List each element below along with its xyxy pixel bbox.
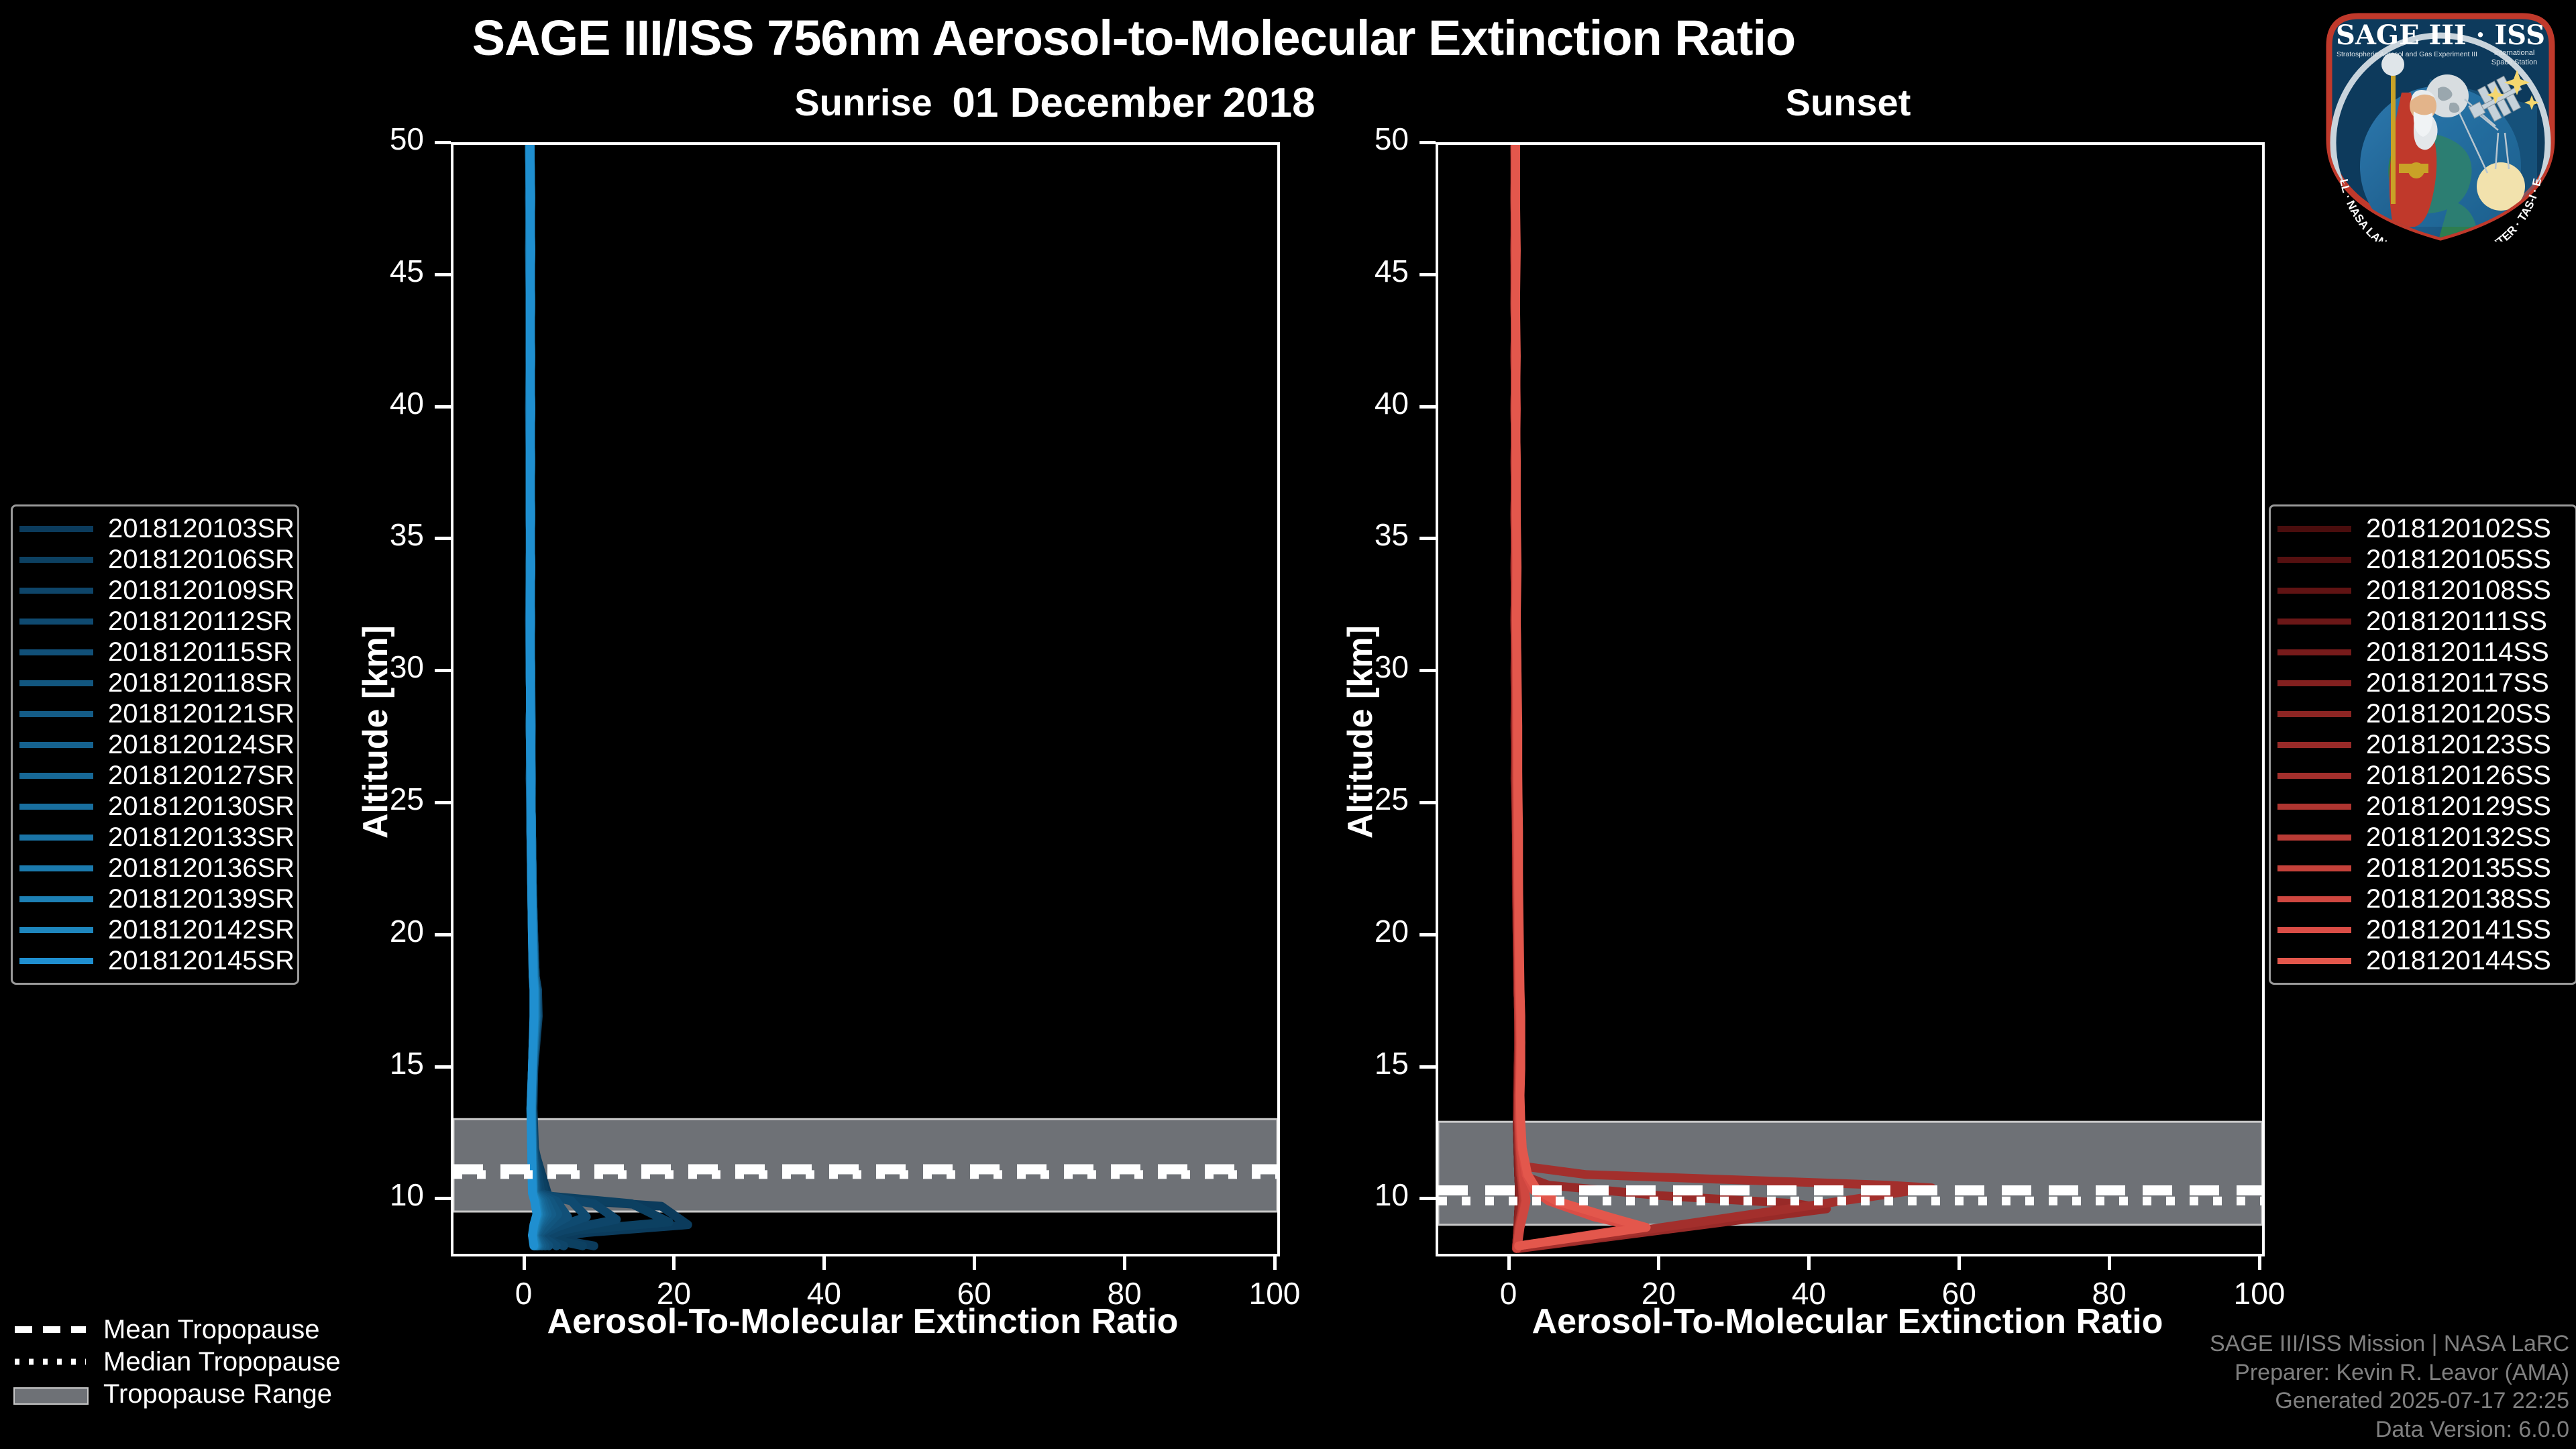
legend-item-label: 2018120120SS: [2366, 699, 2551, 729]
legend-item-label: 2018120145SR: [108, 946, 294, 976]
legend-color-swatch: [2277, 711, 2351, 717]
y-tick-label: 15: [1295, 1045, 1409, 1081]
legend-item-label: 2018120141SS: [2366, 915, 2551, 945]
legend-item-label: 2018120126SS: [2366, 761, 2551, 791]
y-tick-label: 25: [1295, 781, 1409, 817]
legend-item[interactable]: 2018120127SR: [19, 760, 288, 791]
x-tick-mark: [1507, 1254, 1511, 1270]
legend-item-label: 2018120108SS: [2366, 576, 2551, 606]
legend-item[interactable]: 2018120135SS: [2277, 853, 2566, 883]
x-tick-mark: [2108, 1254, 2111, 1270]
x-tick-label: 40: [1748, 1275, 1869, 1311]
legend-color-swatch: [2277, 773, 2351, 779]
legend-color-swatch: [19, 958, 93, 964]
legend-item-label: 2018120136SR: [108, 853, 294, 883]
x-tick-mark: [2258, 1254, 2261, 1270]
legend-item[interactable]: 2018120105SS: [2277, 544, 2566, 575]
legend-item[interactable]: 2018120126SS: [2277, 760, 2566, 791]
legend-item[interactable]: 2018120132SS: [2277, 822, 2566, 853]
legend-color-swatch: [2277, 896, 2351, 902]
y-tick-mark: [1419, 669, 1436, 672]
legend-color-swatch: [19, 865, 93, 871]
legend-item-label: 2018120117SS: [2366, 668, 2549, 698]
legend-item[interactable]: 2018120139SR: [19, 883, 288, 914]
legend-sunset[interactable]: 2018120102SS2018120105SS2018120108SS2018…: [2269, 504, 2576, 985]
credits-block: SAGE III/ISS Mission | NASA LaRC Prepare…: [2210, 1330, 2569, 1444]
legend-item[interactable]: 2018120142SR: [19, 914, 288, 945]
legend-item[interactable]: 2018120138SS: [2277, 883, 2566, 914]
legend-item-label: 2018120129SS: [2366, 792, 2551, 822]
legend-color-swatch: [19, 804, 93, 810]
logo-subtitle-left: Stratospheric Aerosol and Gas Experiment…: [2337, 50, 2477, 58]
y-tick-mark: [1419, 273, 1436, 276]
legend-item-label: 2018120133SR: [108, 822, 294, 853]
legend-item-label: 2018120115SR: [108, 637, 292, 667]
legend-color-swatch: [2277, 619, 2351, 625]
y-tick-label: 10: [1295, 1177, 1409, 1213]
legend-item[interactable]: 2018120103SR: [19, 513, 288, 544]
legend-color-swatch: [2277, 649, 2351, 655]
x-tick-label: 0: [1448, 1275, 1569, 1311]
legend-item[interactable]: 2018120130SR: [19, 791, 288, 822]
y-tick-label: 20: [1295, 913, 1409, 949]
legend-item[interactable]: 2018120102SS: [2277, 513, 2566, 544]
legend-item[interactable]: 2018120114SS: [2277, 637, 2566, 667]
logo-subtitle-right-1: International: [2494, 49, 2535, 57]
legend-item[interactable]: 2018120106SR: [19, 544, 288, 575]
legend-item[interactable]: 2018120118SR: [19, 667, 288, 698]
y-tick-mark: [1419, 801, 1436, 804]
legend-item-label: 2018120121SR: [108, 699, 294, 729]
credit-line: Preparer: Kevin R. Leavor (AMA): [2210, 1358, 2569, 1387]
legend-item-label: 2018120132SS: [2366, 822, 2551, 853]
legend-item-label: 2018120114SS: [2366, 637, 2549, 667]
y-tick-mark: [1419, 141, 1436, 144]
tropopause-legend: Mean TropopauseMedian TropopauseTropopau…: [13, 1313, 341, 1410]
legend-item-label: 2018120105SS: [2366, 545, 2551, 575]
tropopause-legend-item: Median Tropopause: [13, 1346, 341, 1378]
legend-item-label: 2018120138SS: [2366, 884, 2551, 914]
logo-title: SAGE III · ISS: [2336, 19, 2545, 51]
tropopause-legend-item: Mean Tropopause: [13, 1313, 341, 1346]
x-tick-mark: [1807, 1254, 1811, 1270]
legend-color-swatch: [19, 896, 93, 902]
tropopause-legend-label: Median Tropopause: [103, 1347, 341, 1377]
legend-item-label: 2018120144SS: [2366, 946, 2551, 976]
legend-item[interactable]: 2018120121SR: [19, 698, 288, 729]
legend-item-label: 2018120142SR: [108, 915, 294, 945]
legend-color-swatch: [19, 588, 93, 594]
y-tick-label: 45: [1295, 253, 1409, 289]
legend-color-swatch: [2277, 865, 2351, 871]
legend-color-swatch: [2277, 958, 2351, 964]
legend-item-label: 2018120109SR: [108, 576, 294, 606]
legend-item-label: 2018120123SS: [2366, 730, 2551, 760]
legend-color-swatch: [2277, 526, 2351, 532]
legend-item-label: 2018120130SR: [108, 792, 294, 822]
x-tick-label: 60: [1898, 1275, 2019, 1311]
legend-color-swatch: [2277, 588, 2351, 594]
axis-ticks-right: 101520253035404550020406080100: [0, 0, 2281, 1342]
legend-item[interactable]: 2018120129SS: [2277, 791, 2566, 822]
legend-item[interactable]: 2018120133SR: [19, 822, 288, 853]
legend-item[interactable]: 2018120120SS: [2277, 698, 2566, 729]
legend-item-label: 2018120124SR: [108, 730, 294, 760]
legend-color-swatch: [2277, 680, 2351, 686]
x-tick-label: 80: [2049, 1275, 2169, 1311]
sage-iii-iss-mission-patch: SAGE III · ISS Stratospheric Aerosol and…: [2316, 5, 2565, 241]
x-tick-label: 100: [2199, 1275, 2320, 1311]
legend-item-label: 2018120111SS: [2366, 606, 2547, 637]
legend-item-label: 2018120139SR: [108, 884, 294, 914]
y-tick-label: 30: [1295, 649, 1409, 685]
legend-color-swatch: [19, 680, 93, 686]
y-tick-mark: [1419, 405, 1436, 409]
legend-color-swatch: [19, 835, 93, 841]
credit-line: Generated 2025-07-17 22:25: [2210, 1387, 2569, 1415]
legend-color-swatch: [19, 773, 93, 779]
y-tick-mark: [1419, 537, 1436, 540]
legend-color-swatch: [2277, 742, 2351, 748]
legend-color-swatch: [19, 742, 93, 748]
tropopause-legend-item: Tropopause Range: [13, 1378, 341, 1410]
legend-item[interactable]: 2018120141SS: [2277, 914, 2566, 945]
y-tick-label: 40: [1295, 385, 1409, 421]
legend-color-swatch: [2277, 927, 2351, 933]
legend-item[interactable]: 2018120112SR: [19, 606, 288, 637]
range-patch-icon: [13, 1386, 87, 1402]
x-tick-mark: [1657, 1254, 1660, 1270]
dotted-line-icon: [13, 1354, 87, 1370]
legend-item[interactable]: 2018120108SS: [2277, 575, 2566, 606]
y-tick-mark: [1419, 933, 1436, 936]
credit-line: SAGE III/ISS Mission | NASA LaRC: [2210, 1330, 2569, 1358]
legend-color-swatch: [19, 526, 93, 532]
legend-color-swatch: [19, 649, 93, 655]
legend-item[interactable]: 2018120136SR: [19, 853, 288, 883]
credit-line: Data Version: 6.0.0: [2210, 1415, 2569, 1444]
y-tick-mark: [1419, 1197, 1436, 1200]
logo-subtitle-right-2: Space Station: [2491, 58, 2538, 66]
legend-color-swatch: [19, 711, 93, 717]
legend-item[interactable]: 2018120144SS: [2277, 945, 2566, 976]
y-tick-label: 50: [1295, 121, 1409, 157]
tropopause-legend-label: Mean Tropopause: [103, 1315, 319, 1345]
legend-color-swatch: [2277, 835, 2351, 841]
legend-item[interactable]: 2018120109SR: [19, 575, 288, 606]
legend-sunrise[interactable]: 2018120103SR2018120106SR2018120109SR2018…: [11, 504, 299, 985]
x-tick-label: 20: [1598, 1275, 1719, 1311]
legend-item-label: 2018120118SR: [108, 668, 292, 698]
legend-item[interactable]: 2018120123SS: [2277, 729, 2566, 760]
legend-item[interactable]: 2018120145SR: [19, 945, 288, 976]
x-tick-mark: [1957, 1254, 1961, 1270]
legend-item[interactable]: 2018120111SS: [2277, 606, 2566, 637]
legend-item-label: 2018120127SR: [108, 761, 294, 791]
legend-item-label: 2018120102SS: [2366, 514, 2551, 544]
legend-item[interactable]: 2018120115SR: [19, 637, 288, 667]
legend-item-label: 2018120103SR: [108, 514, 294, 544]
tropopause-legend-label: Tropopause Range: [103, 1379, 332, 1409]
legend-item-label: 2018120106SR: [108, 545, 294, 575]
legend-color-swatch: [2277, 557, 2351, 563]
dashed-line-icon: [13, 1322, 87, 1338]
legend-color-swatch: [2277, 804, 2351, 810]
legend-item-label: 2018120112SR: [108, 606, 292, 637]
legend-item[interactable]: 2018120124SR: [19, 729, 288, 760]
legend-item-label: 2018120135SS: [2366, 853, 2551, 883]
legend-color-swatch: [19, 619, 93, 625]
legend-item[interactable]: 2018120117SS: [2277, 667, 2566, 698]
legend-color-swatch: [19, 927, 93, 933]
y-tick-mark: [1419, 1065, 1436, 1069]
y-tick-label: 35: [1295, 517, 1409, 553]
legend-color-swatch: [19, 557, 93, 563]
